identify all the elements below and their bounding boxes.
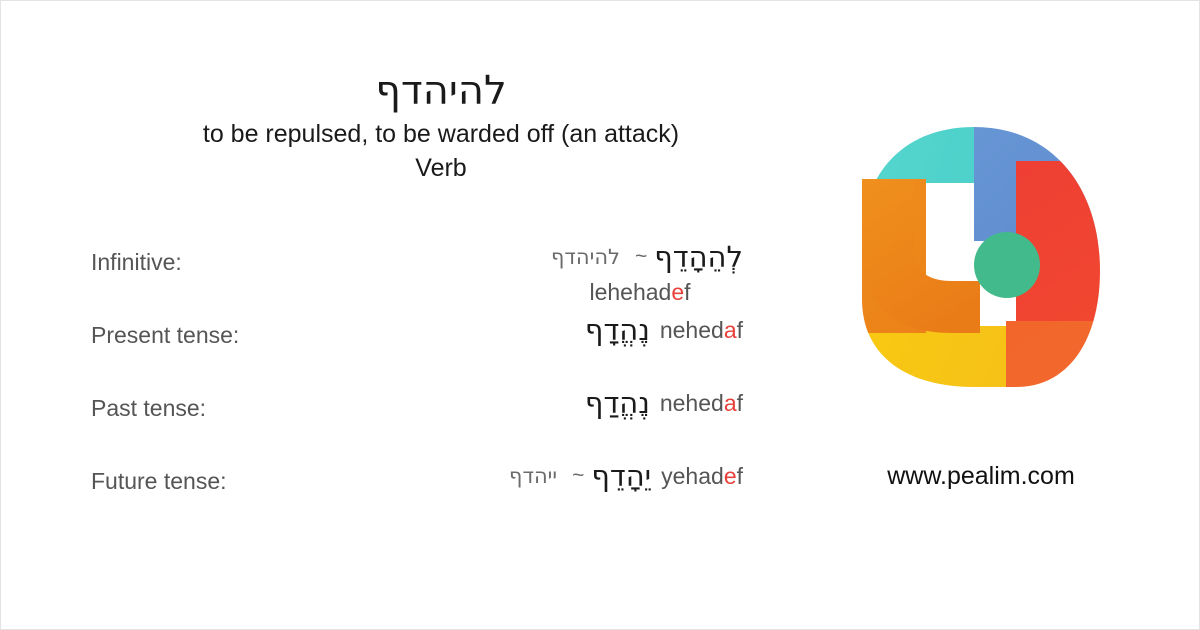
hebrew-vocalized: לְהֵהָדֵף <box>654 239 743 275</box>
row-label: Present tense: <box>91 320 239 350</box>
pealim-logo-icon <box>856 121 1106 393</box>
branding-area <box>856 121 1121 411</box>
row-label: Past tense: <box>91 393 206 423</box>
headword-meaning: to be repulsed, to be warded off (an att… <box>1 117 881 151</box>
conjugation-row-present: Present tense: נֶהֱדָףnehedaf <box>1 310 881 383</box>
translit-pre: yehad <box>661 463 724 489</box>
translit-post: f <box>737 463 743 489</box>
conjugation-list: Infinitive: להיהדף~לְהֵהָדֵף lehehadef P… <box>1 237 881 529</box>
transliteration: nehedaf <box>660 312 743 348</box>
translit-pre: nehed <box>660 317 724 343</box>
translit-stressed-vowel: e <box>671 279 684 305</box>
headword-hebrew: להיהדף <box>1 67 881 115</box>
site-url: www.pealim.com <box>846 459 1116 493</box>
translit-stressed-vowel: a <box>724 317 737 343</box>
row-forms: ייהדף~יֵהָדֵףyehadef <box>509 458 743 494</box>
row-forms: להיהדף~לְהֵהָדֵף <box>551 239 743 275</box>
translit-post: f <box>737 390 743 416</box>
part-of-speech: Verb <box>1 151 881 185</box>
conjugation-row-future: Future tense: ייהדף~יֵהָדֵףyehadef <box>1 456 881 529</box>
translit-post: f <box>684 279 690 305</box>
row-label: Infinitive: <box>91 247 182 277</box>
card-header: להיהדף to be repulsed, to be warded off … <box>1 67 881 185</box>
hebrew-vocalized: נֶהֱדָף <box>585 312 650 348</box>
hebrew-vocalized: יֵהָדֵף <box>591 458 651 494</box>
row-value: להיהדף~לְהֵהָדֵף lehehadef <box>551 239 743 307</box>
logo-green-dot <box>974 232 1040 298</box>
transliteration: lehehadef <box>551 277 743 307</box>
translit-pre: nehed <box>660 390 724 416</box>
row-value: ייהדף~יֵהָדֵףyehadef <box>509 458 743 494</box>
translit-stressed-vowel: a <box>724 390 737 416</box>
form-separator: ~ <box>635 239 647 275</box>
conjugation-row-infinitive: Infinitive: להיהדף~לְהֵהָדֵף lehehadef <box>1 237 881 310</box>
pealim-verb-card: להיהדף to be repulsed, to be warded off … <box>0 0 1200 630</box>
row-label: Future tense: <box>91 466 227 496</box>
translit-stressed-vowel: e <box>724 463 737 489</box>
row-forms: נֶהֱדָףnehedaf <box>585 312 743 348</box>
transliteration: nehedaf <box>660 385 743 421</box>
transliteration: yehadef <box>661 458 743 494</box>
row-value: נֶהֱדַףnehedaf <box>585 385 743 421</box>
hebrew-plain: ייהדף <box>509 458 557 494</box>
hebrew-plain: להיהדף <box>551 239 620 275</box>
conjugation-row-past: Past tense: נֶהֱדַףnehedaf <box>1 383 881 456</box>
hebrew-vocalized: נֶהֱדַף <box>585 385 650 421</box>
translit-post: f <box>737 317 743 343</box>
row-forms: נֶהֱדַףnehedaf <box>585 385 743 421</box>
translit-pre: lehehad <box>589 279 671 305</box>
form-separator: ~ <box>572 458 584 494</box>
row-value: נֶהֱדָףnehedaf <box>585 312 743 348</box>
